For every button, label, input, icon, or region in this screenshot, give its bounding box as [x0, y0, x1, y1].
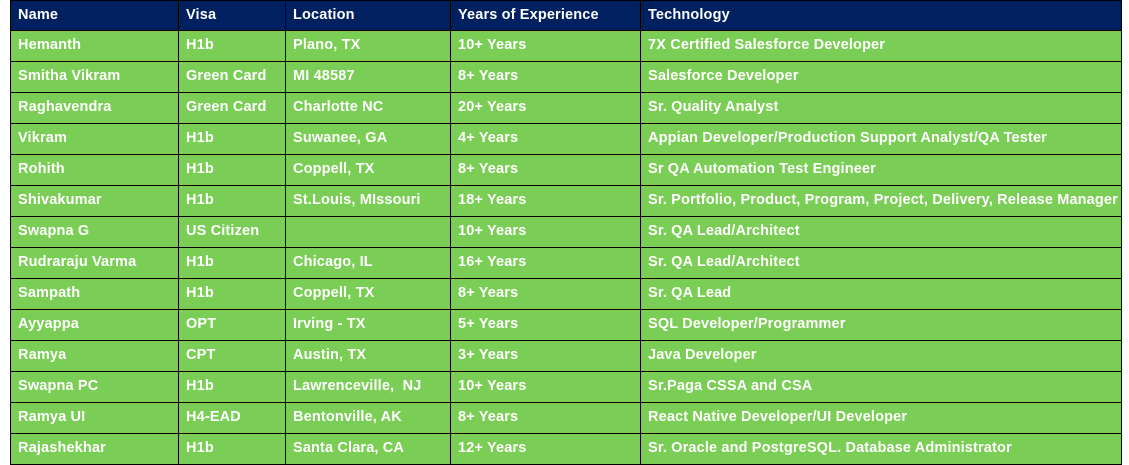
cell-technology[interactable]: Appian Developer/Production Support Anal…	[641, 124, 1122, 155]
cell-years[interactable]: 8+ Years	[451, 155, 641, 186]
table-row[interactable]: Rudraraju VarmaH1bChicago, IL16+ YearsSr…	[11, 248, 1122, 279]
column-header-technology[interactable]: Technology	[641, 1, 1122, 31]
cell-visa[interactable]: H4-EAD	[179, 403, 286, 434]
cell-years[interactable]: 8+ Years	[451, 62, 641, 93]
cell-location[interactable]: MI 48587	[286, 62, 451, 93]
cell-name[interactable]: Shivakumar	[11, 186, 179, 217]
cell-name[interactable]: Smitha Vikram	[11, 62, 179, 93]
table-row[interactable]: Ramya UIH4-EADBentonville, AK8+ YearsRea…	[11, 403, 1122, 434]
cell-years[interactable]: 8+ Years	[451, 279, 641, 310]
cell-visa[interactable]: US Citizen	[179, 217, 286, 248]
cell-location[interactable]	[286, 217, 451, 248]
table-header: Name Visa Location Years of Experience T…	[11, 1, 1122, 31]
cell-name[interactable]: Raghavendra	[11, 93, 179, 124]
cell-name[interactable]: Ramya	[11, 341, 179, 372]
cell-visa[interactable]: H1b	[179, 248, 286, 279]
cell-visa[interactable]: Green Card	[179, 93, 286, 124]
table-row[interactable]: RaghavendraGreen CardCharlotte NC20+ Yea…	[11, 93, 1122, 124]
cell-location[interactable]: Suwanee, GA	[286, 124, 451, 155]
table-row[interactable]: HemanthH1bPlano, TX10+ Years7X Certified…	[11, 31, 1122, 62]
table-row[interactable]: RajashekharH1bSanta Clara, CA12+ YearsSr…	[11, 434, 1122, 465]
cell-technology[interactable]: Sr. QA Lead/Architect	[641, 248, 1122, 279]
cell-name[interactable]: Ayyappa	[11, 310, 179, 341]
cell-visa[interactable]: H1b	[179, 186, 286, 217]
cell-name[interactable]: Swapna G	[11, 217, 179, 248]
cell-technology[interactable]: Sr.Paga CSSA and CSA	[641, 372, 1122, 403]
candidate-table: Name Visa Location Years of Experience T…	[10, 0, 1122, 465]
cell-years[interactable]: 18+ Years	[451, 186, 641, 217]
table-row[interactable]: RohithH1bCoppell, TX8+ YearsSr QA Automa…	[11, 155, 1122, 186]
cell-technology[interactable]: React Native Developer/UI Developer	[641, 403, 1122, 434]
candidate-table-container: Name Visa Location Years of Experience T…	[10, 0, 1121, 465]
column-header-name[interactable]: Name	[11, 1, 179, 31]
cell-visa[interactable]: H1b	[179, 279, 286, 310]
cell-location[interactable]: Coppell, TX	[286, 155, 451, 186]
cell-location[interactable]: Lawrenceville, NJ	[286, 372, 451, 403]
cell-years[interactable]: 20+ Years	[451, 93, 641, 124]
table-row[interactable]: AyyappaOPTIrving - TX5+ YearsSQL Develop…	[11, 310, 1122, 341]
cell-name[interactable]: Rajashekhar	[11, 434, 179, 465]
cell-years[interactable]: 10+ Years	[451, 372, 641, 403]
cell-technology[interactable]: SQL Developer/Programmer	[641, 310, 1122, 341]
cell-name[interactable]: Rohith	[11, 155, 179, 186]
table-row[interactable]: Swapna GUS Citizen10+ YearsSr. QA Lead/A…	[11, 217, 1122, 248]
table-row[interactable]: SampathH1bCoppell, TX8+ YearsSr. QA Lead	[11, 279, 1122, 310]
cell-visa[interactable]: H1b	[179, 155, 286, 186]
column-header-location[interactable]: Location	[286, 1, 451, 31]
cell-technology[interactable]: Sr QA Automation Test Engineer	[641, 155, 1122, 186]
cell-location[interactable]: Irving - TX	[286, 310, 451, 341]
cell-technology[interactable]: Sr. Quality Analyst	[641, 93, 1122, 124]
cell-name[interactable]: Rudraraju Varma	[11, 248, 179, 279]
cell-name[interactable]: Ramya UI	[11, 403, 179, 434]
cell-visa[interactable]: Green Card	[179, 62, 286, 93]
cell-name[interactable]: Swapna PC	[11, 372, 179, 403]
cell-years[interactable]: 12+ Years	[451, 434, 641, 465]
column-header-visa[interactable]: Visa	[179, 1, 286, 31]
cell-technology[interactable]: Java Developer	[641, 341, 1122, 372]
cell-years[interactable]: 3+ Years	[451, 341, 641, 372]
cell-visa[interactable]: H1b	[179, 124, 286, 155]
cell-location[interactable]: Santa Clara, CA	[286, 434, 451, 465]
cell-years[interactable]: 10+ Years	[451, 31, 641, 62]
table-row[interactable]: VikramH1bSuwanee, GA4+ YearsAppian Devel…	[11, 124, 1122, 155]
cell-visa[interactable]: H1b	[179, 372, 286, 403]
table-row[interactable]: Swapna PCH1bLawrenceville, NJ10+ YearsSr…	[11, 372, 1122, 403]
cell-visa[interactable]: CPT	[179, 341, 286, 372]
cell-location[interactable]: Bentonville, AK	[286, 403, 451, 434]
cell-location[interactable]: St.Louis, MIssouri	[286, 186, 451, 217]
cell-location[interactable]: Chicago, IL	[286, 248, 451, 279]
table-row[interactable]: ShivakumarH1bSt.Louis, MIssouri18+ Years…	[11, 186, 1122, 217]
column-header-years[interactable]: Years of Experience	[451, 1, 641, 31]
table-header-row: Name Visa Location Years of Experience T…	[11, 1, 1122, 31]
cell-technology[interactable]: Salesforce Developer	[641, 62, 1122, 93]
cell-location[interactable]: Austin, TX	[286, 341, 451, 372]
cell-technology[interactable]: Sr. Portfolio, Product, Program, Project…	[641, 186, 1122, 217]
cell-name[interactable]: Sampath	[11, 279, 179, 310]
cell-technology[interactable]: Sr. QA Lead/Architect	[641, 217, 1122, 248]
cell-years[interactable]: 16+ Years	[451, 248, 641, 279]
cell-technology[interactable]: Sr. QA Lead	[641, 279, 1122, 310]
cell-years[interactable]: 8+ Years	[451, 403, 641, 434]
cell-technology[interactable]: 7X Certified Salesforce Developer	[641, 31, 1122, 62]
cell-years[interactable]: 5+ Years	[451, 310, 641, 341]
cell-visa[interactable]: H1b	[179, 434, 286, 465]
cell-visa[interactable]: OPT	[179, 310, 286, 341]
cell-name[interactable]: Hemanth	[11, 31, 179, 62]
cell-name[interactable]: Vikram	[11, 124, 179, 155]
table-row[interactable]: RamyaCPTAustin, TX3+ YearsJava Developer	[11, 341, 1122, 372]
cell-location[interactable]: Plano, TX	[286, 31, 451, 62]
cell-technology[interactable]: Sr. Oracle and PostgreSQL. Database Admi…	[641, 434, 1122, 465]
table-body: HemanthH1bPlano, TX10+ Years7X Certified…	[11, 31, 1122, 465]
cell-location[interactable]: Coppell, TX	[286, 279, 451, 310]
cell-years[interactable]: 4+ Years	[451, 124, 641, 155]
cell-location[interactable]: Charlotte NC	[286, 93, 451, 124]
cell-visa[interactable]: H1b	[179, 31, 286, 62]
table-row[interactable]: Smitha VikramGreen CardMI 485878+ YearsS…	[11, 62, 1122, 93]
cell-years[interactable]: 10+ Years	[451, 217, 641, 248]
